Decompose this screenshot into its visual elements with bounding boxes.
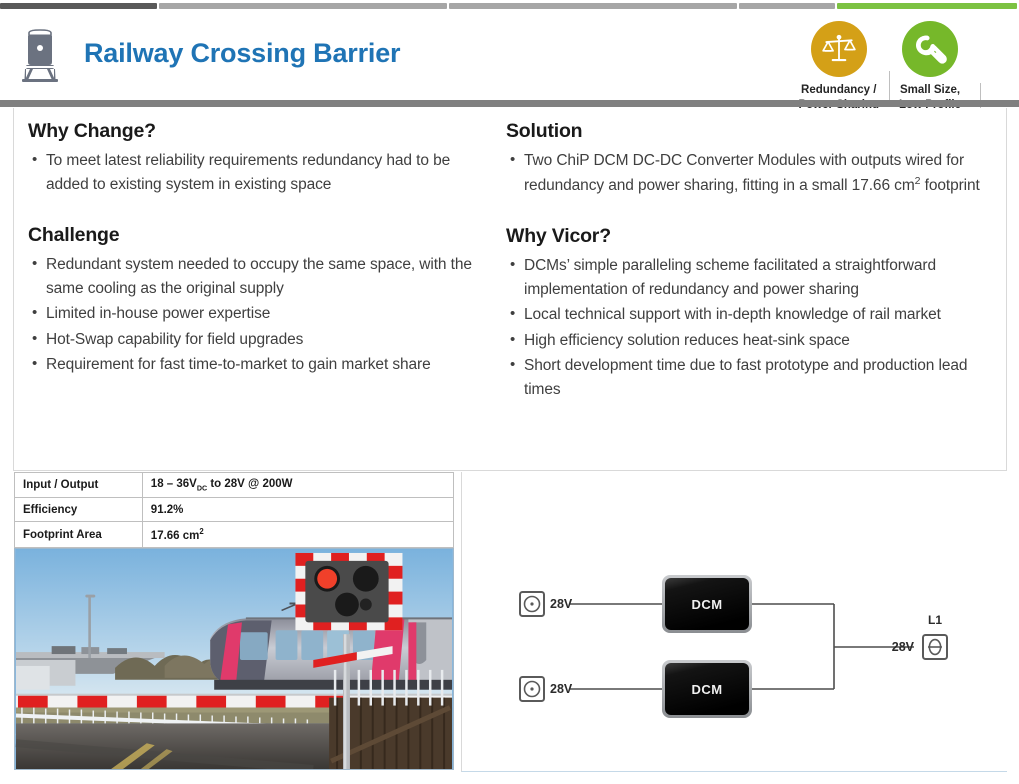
spec-value: 18 – 36VDC to 28V @ 200W [142,473,453,498]
page-title: Railway Crossing Barrier [84,38,400,69]
header-title-group: Railway Crossing Barrier [14,9,400,98]
table-row: Footprint Area 17.66 cm2 [15,522,454,548]
source-bottom [520,677,544,701]
list-item: Requirement for fast time-to-market to g… [28,353,478,377]
svg-text:28V: 28V [892,640,915,654]
page-header: Railway Crossing Barrier Redun [0,9,1019,98]
list-item: Redundant system needed to occupy the sa… [28,253,478,300]
spec-key: Input / Output [15,473,143,498]
spec-value-a: 18 – 36V [151,478,197,490]
list-item: Limited in-house power expertise [28,302,478,326]
main-content: Why Change? To meet latest reliability r… [13,108,1007,471]
svg-text:DCM: DCM [691,682,722,697]
spec-key: Efficiency [15,498,143,522]
load-lamp [923,635,947,659]
heading-why-vicor: Why Vicor? [506,225,1002,248]
wrench-icon [902,21,958,77]
railway-crossing-photo [14,548,454,770]
svg-text:DCM: DCM [691,597,722,612]
spec-value: 91.2% [142,498,453,522]
feature-badges: Redundancy / Power Sharing Small Size, L… [788,21,971,112]
spec-value-a: 17.66 cm [151,530,200,542]
spec-value-sub: DC [197,484,207,492]
list-item: To meet latest reliability requirements … [28,149,478,196]
challenge-list: Redundant system needed to occupy the sa… [28,253,478,377]
why-vicor-list: DCMs’ simple paralleling scheme facilita… [506,254,1002,401]
solution-text-main: Two ChiP DCM DC-DC Converter Modules wit… [524,152,964,194]
slide-page: Railway Crossing Barrier Redun [0,0,1019,784]
train-icon [14,24,66,84]
list-item: Local technical support with in-depth kn… [506,303,1002,327]
heading-solution: Solution [506,120,1002,143]
list-item: Hot-Swap capability for field upgrades [28,328,478,352]
list-item: Short development time due to fast proto… [506,354,1002,401]
svg-text:28V: 28V [550,682,573,696]
heading-challenge: Challenge [28,224,478,247]
svg-text:L1: L1 [928,613,942,627]
right-column: Solution Two ChiP DCM DC-DC Converter Mo… [506,116,1002,404]
solution-text-tail: footprint [920,177,979,194]
list-item: DCMs’ simple paralleling scheme facilita… [506,254,1002,301]
heading-why-change: Why Change? [28,120,478,143]
table-row: Input / Output 18 – 36VDC to 28V @ 200W [15,473,454,498]
spec-value: 17.66 cm2 [142,522,453,548]
specifications-table: Input / Output 18 – 36VDC to 28V @ 200W … [14,472,454,548]
badge-small-size-low-profile: Small Size, Low Profile [889,21,971,112]
spec-value-b: to 28V @ 200W [207,478,292,490]
spec-value-a: 91.2% [151,504,184,516]
list-item: High efficiency solution reduces heat-si… [506,329,1002,353]
left-column: Why Change? To meet latest reliability r… [28,116,478,379]
specs-and-photo: Input / Output 18 – 36VDC to 28V @ 200W … [13,472,461,772]
solution-list: Two ChiP DCM DC-DC Converter Modules wit… [506,149,1002,197]
table-row: Efficiency 91.2% [15,498,454,522]
spec-value-sup: 2 [199,527,203,536]
header-divider [0,100,1019,107]
list-item: Two ChiP DCM DC-DC Converter Modules wit… [506,149,1002,197]
svg-text:28V: 28V [550,597,573,611]
spec-key: Footprint Area [15,522,143,548]
bottom-section: Input / Output 18 – 36VDC to 28V @ 200W … [13,472,1007,772]
why-change-list: To meet latest reliability requirements … [28,149,478,196]
dcm-redundancy-block-diagram: 28V 28V DCM DCM [462,472,1008,772]
diagram-panel: 28V 28V DCM DCM [461,472,1007,772]
badge-redundancy-power-sharing: Redundancy / Power Sharing [788,21,889,112]
source-top [520,592,544,616]
balance-scales-icon [811,21,867,77]
